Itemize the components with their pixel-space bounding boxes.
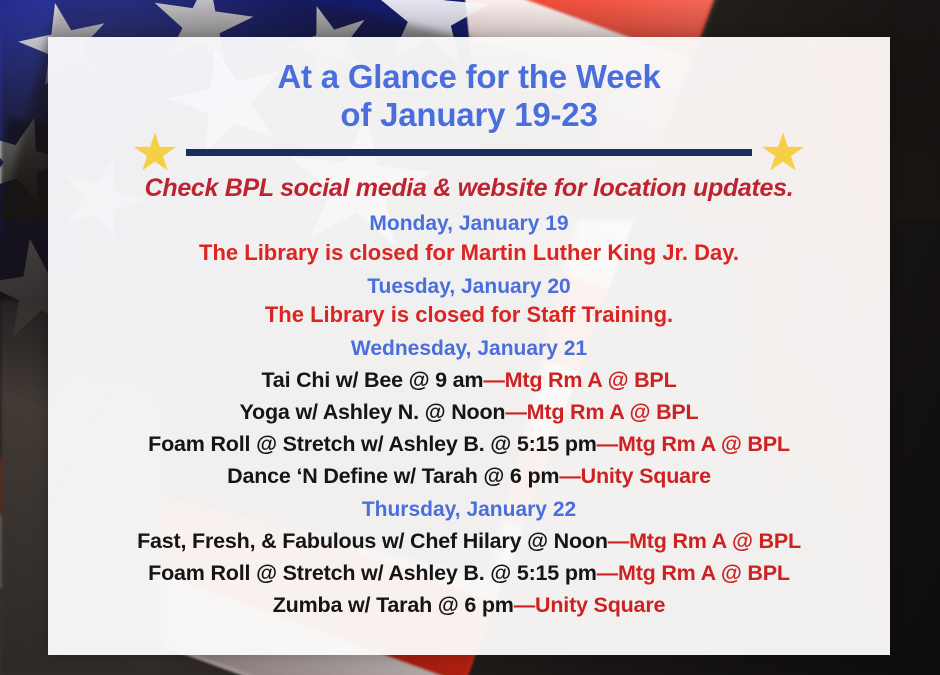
star-icon-left [133, 132, 177, 174]
event-location: Unity Square [581, 464, 711, 488]
event-name: Dance ‘N Define w/ Tarah @ 6 pm [227, 464, 559, 488]
event-dash: — [597, 561, 618, 585]
event-dash: — [483, 368, 504, 392]
event-location: Mtg Rm A @ BPL [505, 368, 677, 392]
flag-poster: At a Glance for the Week of January 19-2… [0, 0, 940, 675]
weekly-schedule: Monday, January 19The Library is closed … [48, 212, 890, 619]
page-title: At a Glance for the Week of January 19-2… [48, 37, 890, 133]
closure-note: The Library is closed for Martin Luther … [48, 240, 890, 266]
event-row: Dance ‘N Define w/ Tarah @ 6 pm—Unity Sq… [48, 464, 890, 490]
day-heading: Tuesday, January 20 [48, 275, 890, 300]
star-icon-right [761, 132, 805, 174]
event-name: Zumba w/ Tarah @ 6 pm [273, 593, 514, 617]
event-location: Mtg Rm A @ BPL [527, 400, 699, 424]
event-location: Mtg Rm A @ BPL [618, 561, 790, 585]
event-row: Fast, Fresh, & Fabulous w/ Chef Hilary @… [48, 529, 890, 555]
event-dash: — [597, 432, 618, 456]
event-location: Mtg Rm A @ BPL [618, 432, 790, 456]
page-title-line-2: of January 19-23 [340, 96, 597, 133]
event-name: Yoga w/ Ashley N. @ Noon [240, 400, 506, 424]
closure-note: The Library is closed for Staff Training… [48, 302, 890, 328]
event-location: Unity Square [535, 593, 665, 617]
event-name: Foam Roll @ Stretch w/ Ashley B. @ 5:15 … [148, 432, 597, 456]
event-location: Mtg Rm A @ BPL [629, 529, 801, 553]
event-name: Fast, Fresh, & Fabulous w/ Chef Hilary @… [137, 529, 608, 553]
day-heading: Thursday, January 22 [48, 498, 890, 523]
day-heading: Monday, January 19 [48, 212, 890, 237]
announcement-card: At a Glance for the Week of January 19-2… [48, 37, 890, 655]
title-divider-row [48, 134, 890, 168]
event-row: Foam Roll @ Stretch w/ Ashley B. @ 5:15 … [48, 432, 890, 458]
divider-rule [186, 149, 752, 156]
event-dash: — [505, 400, 526, 424]
location-updates-notice: Check BPL social media & website for loc… [48, 174, 890, 203]
event-row: Foam Roll @ Stretch w/ Ashley B. @ 5:15 … [48, 561, 890, 587]
event-dash: — [514, 593, 535, 617]
event-name: Tai Chi w/ Bee @ 9 am [261, 368, 483, 392]
event-dash: — [559, 464, 580, 488]
event-dash: — [608, 529, 629, 553]
day-heading: Wednesday, January 21 [48, 337, 890, 362]
event-name: Foam Roll @ Stretch w/ Ashley B. @ 5:15 … [148, 561, 597, 585]
card-content: At a Glance for the Week of January 19-2… [48, 37, 890, 619]
event-row: Tai Chi w/ Bee @ 9 am—Mtg Rm A @ BPL [48, 368, 890, 394]
page-title-line-1: At a Glance for the Week [277, 58, 660, 95]
event-row: Zumba w/ Tarah @ 6 pm—Unity Square [48, 593, 890, 619]
event-row: Yoga w/ Ashley N. @ Noon—Mtg Rm A @ BPL [48, 400, 890, 426]
